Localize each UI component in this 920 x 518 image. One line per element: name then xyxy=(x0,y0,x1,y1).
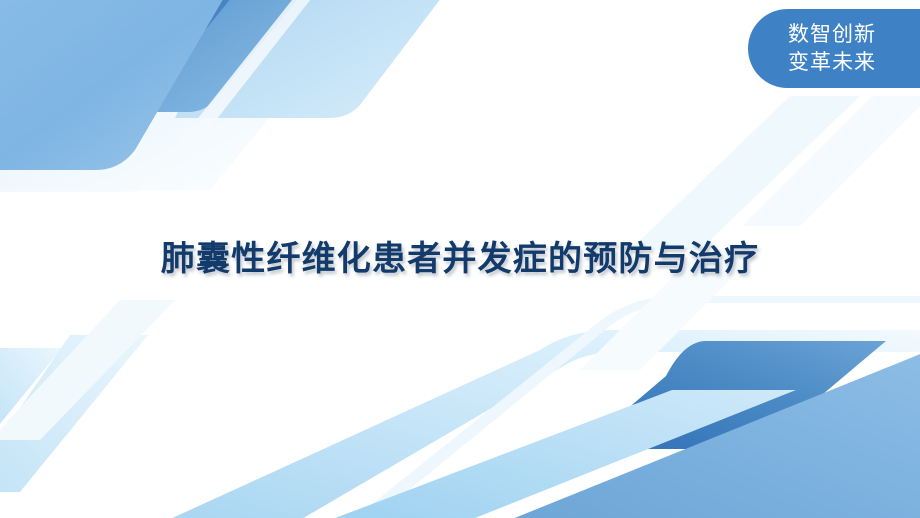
slogan-badge: 数智创新 变革未来 xyxy=(748,9,920,88)
page-title: 肺囊性纤维化患者并发症的预防与治疗 xyxy=(161,231,759,280)
top-left-hairline xyxy=(0,0,318,192)
bottom-left-chevron-lower xyxy=(0,335,148,492)
bottom-right-parallelogram xyxy=(580,341,886,449)
top-right-wisp-b xyxy=(742,96,920,226)
top-right-wisp-a xyxy=(630,96,860,250)
top-diagonal-band-pale xyxy=(0,0,400,190)
bottom-left-chevron xyxy=(0,348,62,436)
bottom-right-light-wedge xyxy=(330,390,796,518)
top-left-block xyxy=(0,0,246,170)
bottom-sweep-band xyxy=(168,330,920,518)
top-diagonal-band-mid xyxy=(100,0,330,112)
top-diagonal-band-dark xyxy=(50,0,262,110)
bottom-sweep-hairline xyxy=(352,296,920,518)
top-diagonal-band-light xyxy=(175,0,470,118)
title-container: 肺囊性纤维化患者并发症的预防与治疗 xyxy=(0,231,920,280)
title-slide: 数智创新 变革未来 肺囊性纤维化患者并发症的预防与治疗 xyxy=(0,0,920,518)
mid-left-wisp xyxy=(0,300,175,440)
slogan-line-2: 变革未来 xyxy=(788,49,876,77)
bottom-right-wedge xyxy=(485,338,920,518)
slogan-line-1: 数智创新 xyxy=(788,21,876,49)
